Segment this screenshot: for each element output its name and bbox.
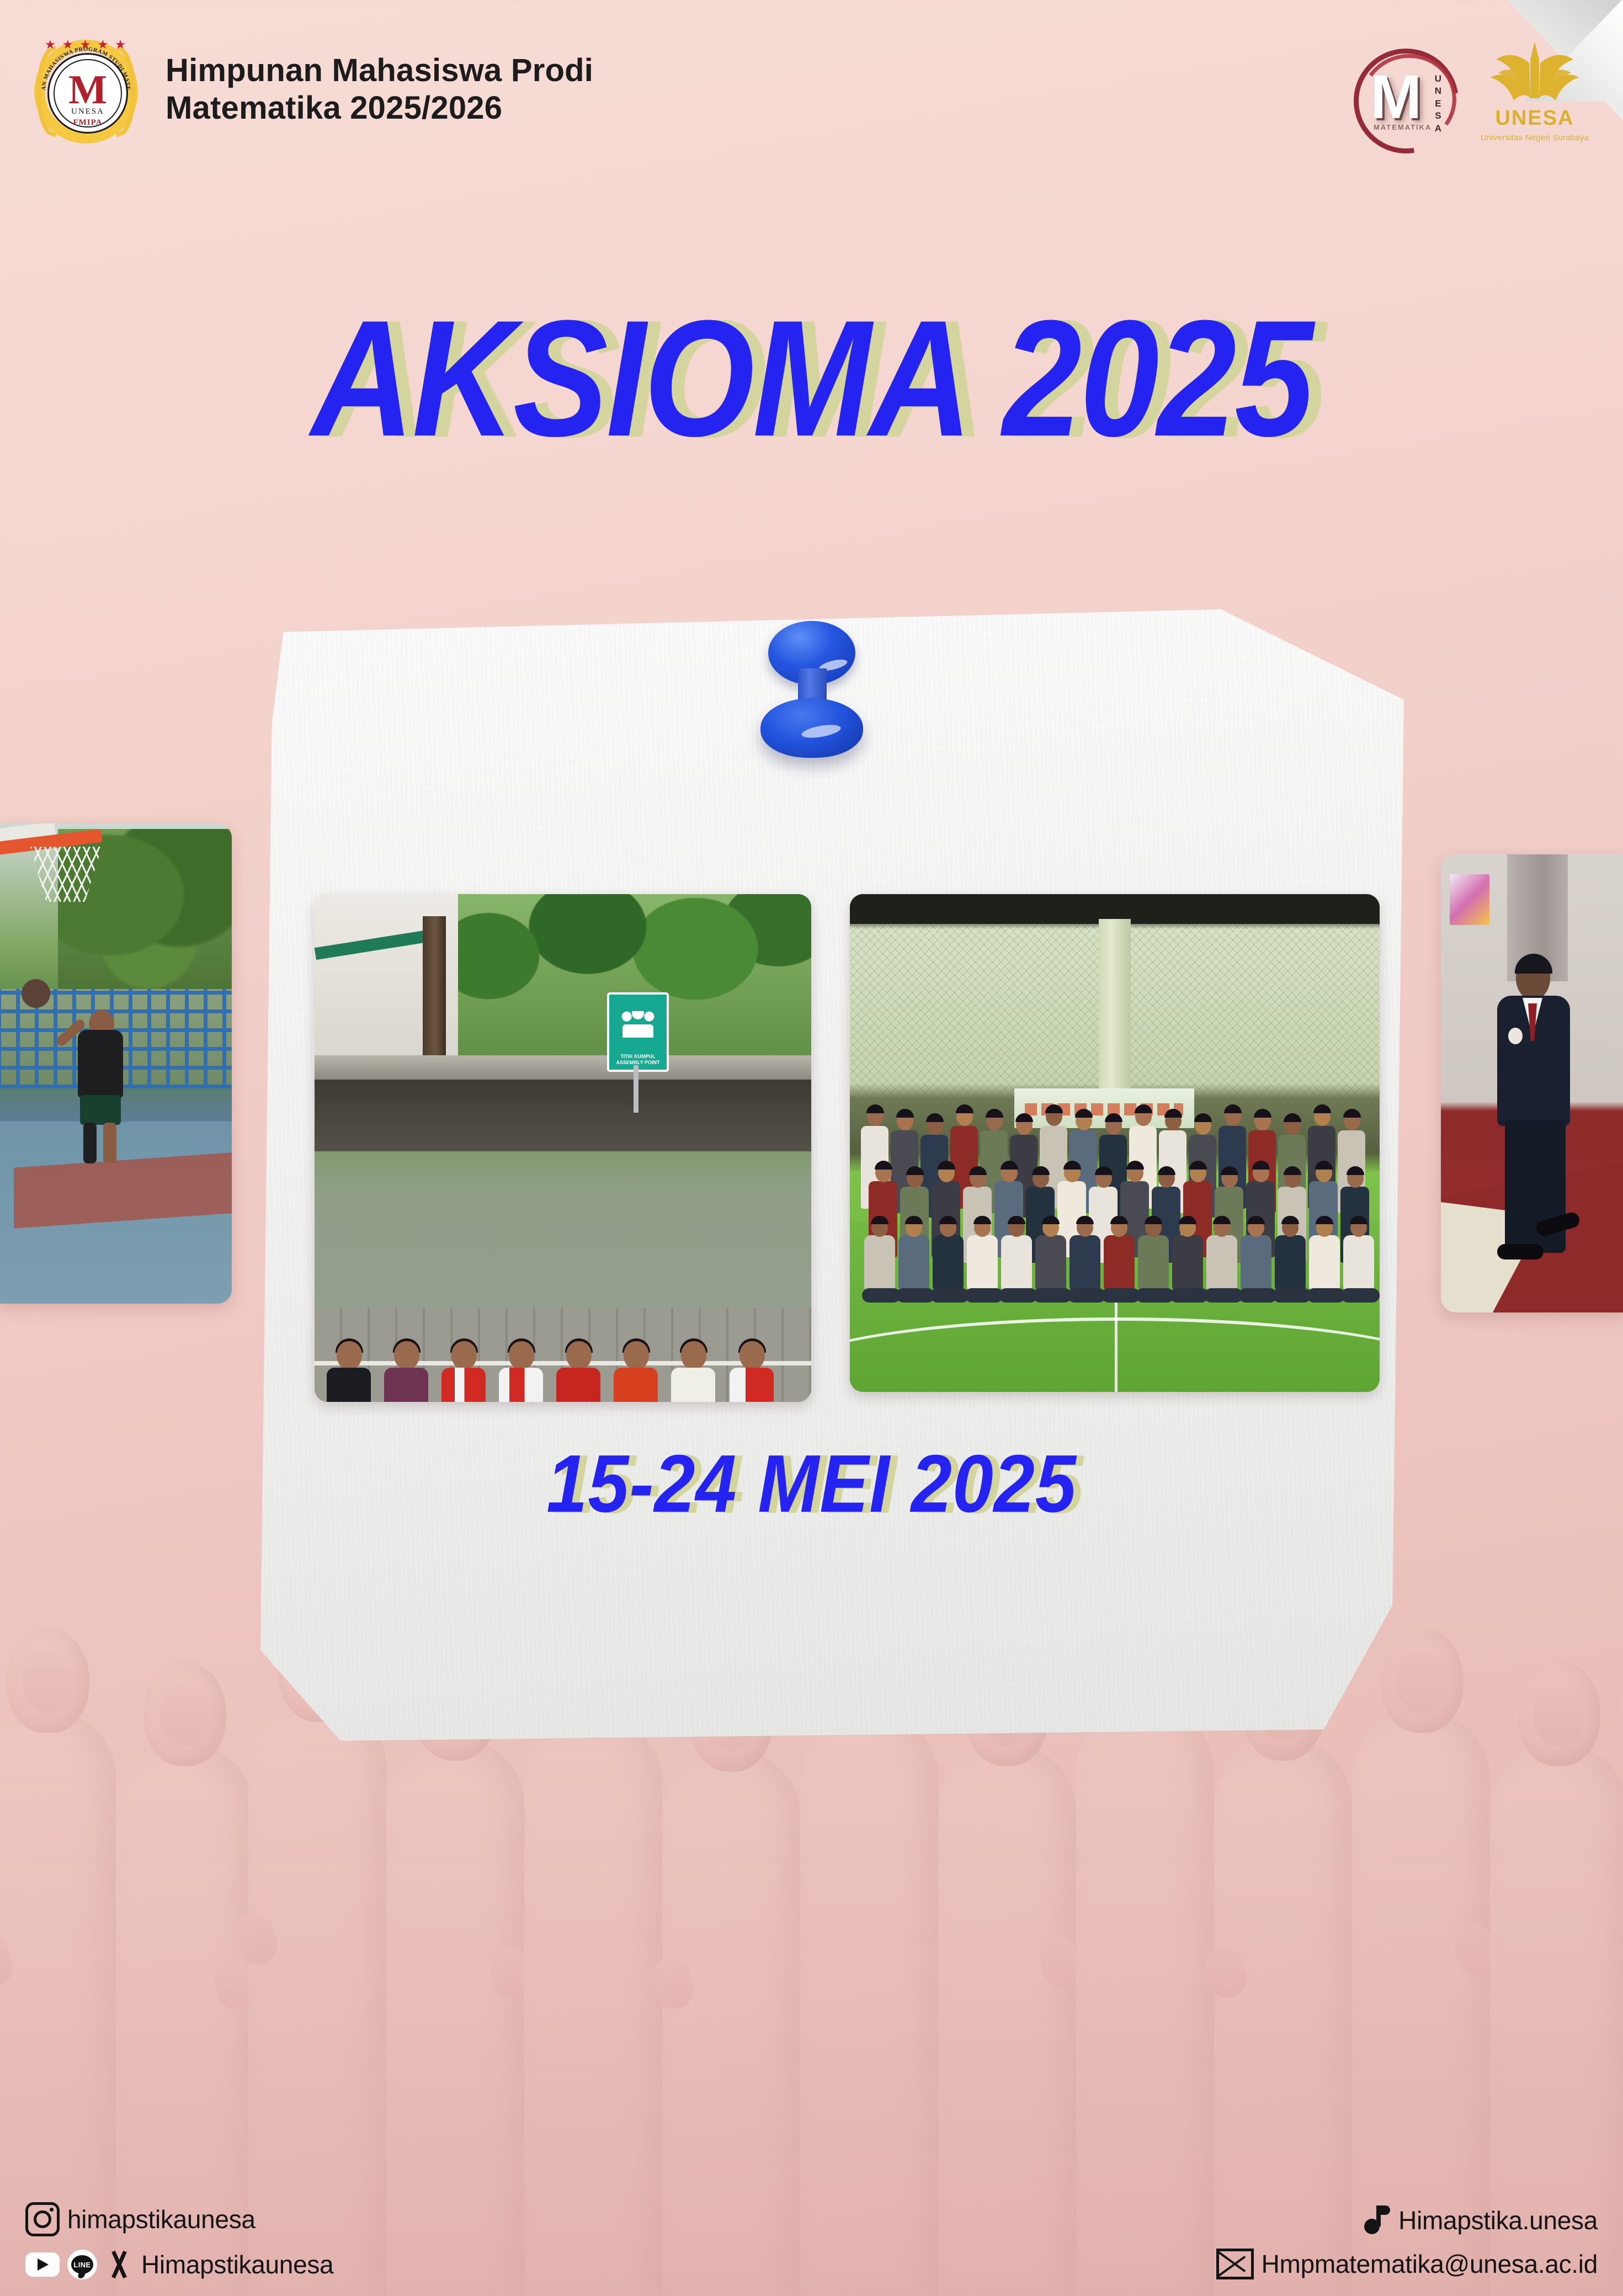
event-date: 15-24 MEI 2025 (81, 1443, 1542, 1525)
page-title: Himpunan Mahasiswa Prodi Matematika 2025… (166, 52, 593, 127)
email-address: Hmpmatematika@unesa.ac.id (1262, 2249, 1598, 2279)
poster-footer: himapstikaunesa LINE Himapstikaunesa Him… (0, 2130, 1623, 2296)
email-icon[interactable] (1216, 2249, 1254, 2279)
hmp-seal-icon: ★ ★ ★ ★ ★ HIMPUNAN MAHASISWA PROGRAM STU… (34, 40, 138, 143)
instagram-contact[interactable]: himapstikaunesa (25, 2202, 333, 2236)
m-logo-vertical-text: UNESA (1435, 73, 1442, 135)
seal-letter-m: M (68, 73, 107, 107)
event-title: AKSIOMA 2025 (114, 295, 1509, 461)
tiktok-handle: Himapstika.unesa (1398, 2205, 1598, 2235)
ceremony-photo (1441, 854, 1623, 1312)
unesa-logo-name: UNESA (1480, 107, 1590, 130)
group-photo (850, 894, 1380, 1392)
x-twitter-icon[interactable] (105, 2250, 134, 2279)
team-photo: TITIK KUMPULASSEMBLY POINT (315, 894, 811, 1402)
email-contact[interactable]: Hmpmatematika@unesa.ac.id (1216, 2249, 1598, 2279)
org-title-line1: Himpunan Mahasiswa Prodi (166, 52, 593, 89)
org-title-line2: Matematika 2025/2026 (166, 89, 593, 127)
tiktok-icon[interactable] (1363, 2205, 1391, 2235)
instagram-icon[interactable] (25, 2202, 60, 2236)
youtube-icon[interactable] (25, 2252, 60, 2277)
tiktok-contact[interactable]: Himapstika.unesa (1216, 2205, 1598, 2235)
line-icon[interactable]: LINE (67, 2250, 97, 2279)
m-logo-caption: MATEMATIKA (1374, 123, 1432, 131)
unesa-logo-icon: UNESA Universitas Negeri Surabaya (1480, 43, 1590, 149)
seal-university: UNESA (71, 107, 104, 116)
basketball-photo (0, 823, 232, 1304)
instagram-handle: himapstikaunesa (67, 2204, 256, 2234)
header-logos: M UNESA MATEMATIKA UNESA Universitas Neg… (1350, 43, 1590, 149)
social-handle: Himapstikaunesa (141, 2250, 333, 2279)
footer-left-contacts: himapstikaunesa LINE Himapstikaunesa (25, 2189, 333, 2279)
footer-right-contacts: Himapstika.unesa Hmpmatematika@unesa.ac.… (1216, 2192, 1598, 2279)
pushpin-icon (754, 621, 870, 759)
matematika-m-logo-icon: M UNESA MATEMATIKA (1350, 46, 1461, 146)
unesa-logo-subtitle: Universitas Negeri Surabaya (1480, 133, 1590, 142)
social-contact-row[interactable]: LINE Himapstikaunesa (25, 2250, 333, 2279)
m-logo-letter: M (1370, 66, 1422, 128)
poster-header: ★ ★ ★ ★ ★ HIMPUNAN MAHASISWA PROGRAM STU… (0, 0, 1623, 166)
seal-faculty: FMIPA (73, 118, 102, 127)
